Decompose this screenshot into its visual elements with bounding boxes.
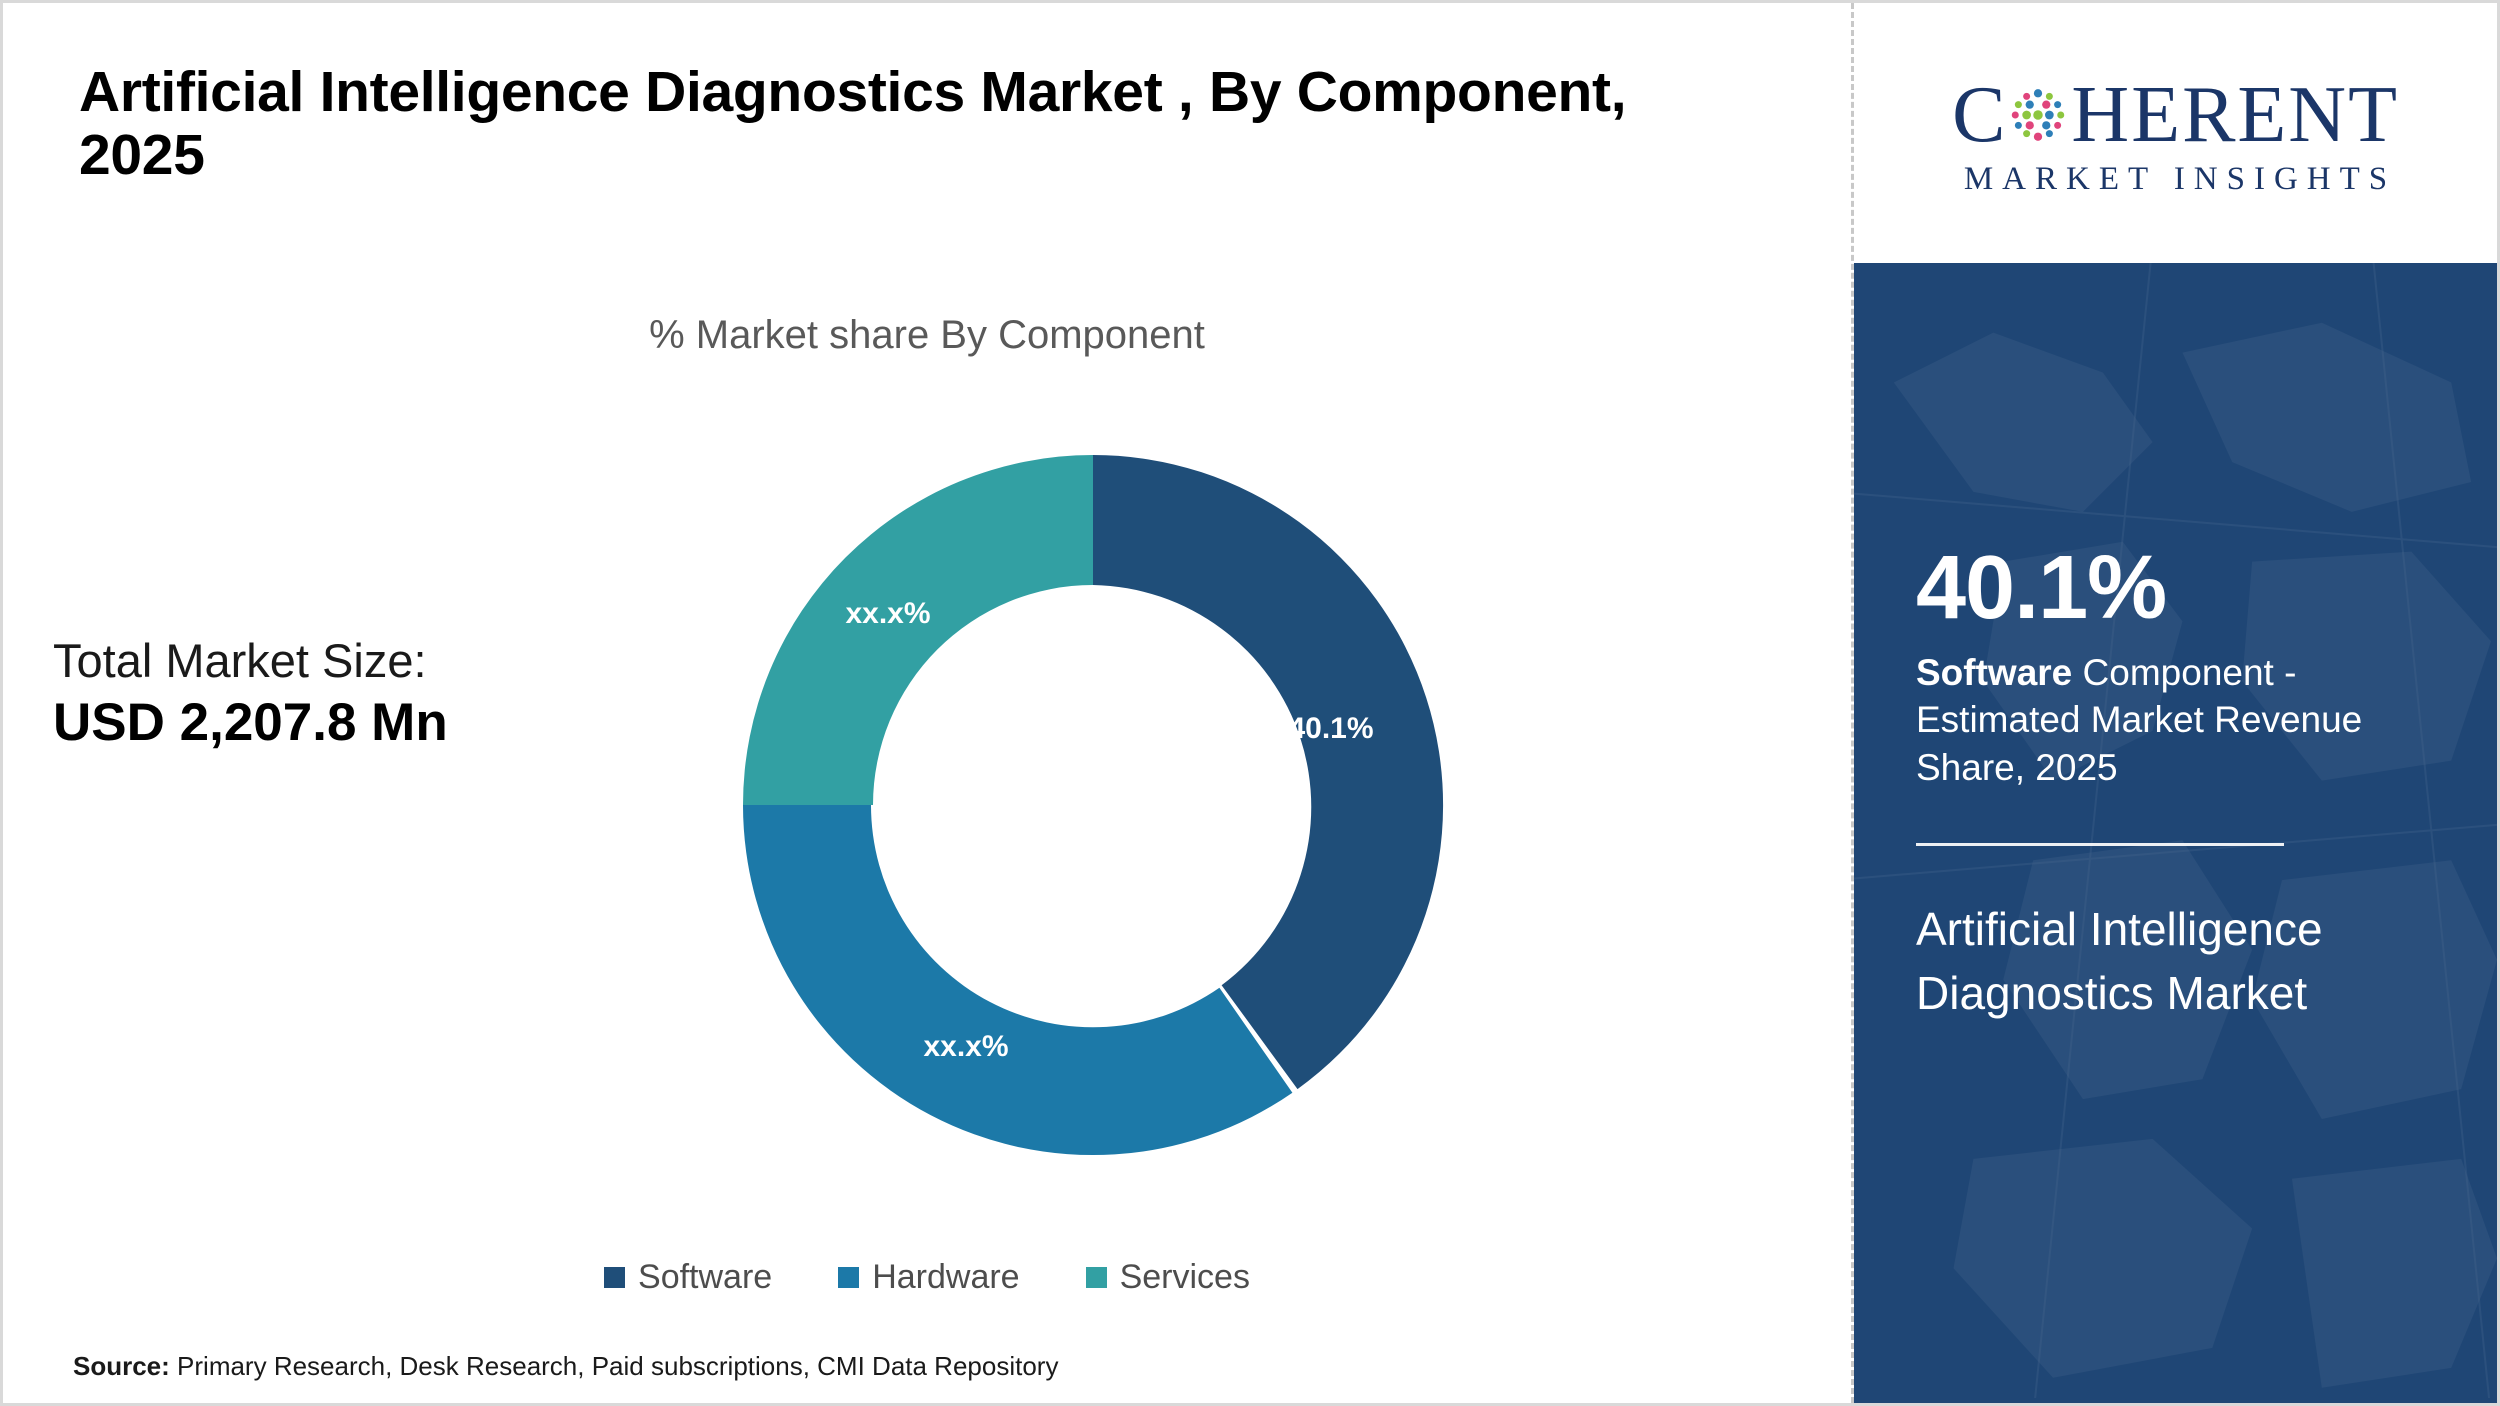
logo-wordmark: C: [1952, 75, 2399, 155]
total-market-size-label: Total Market Size:: [53, 633, 693, 688]
donut-label-software: 40.1%: [1288, 712, 1373, 745]
sidebar-stat-area: 40.1% Software Component - Estimated Mar…: [1854, 263, 2497, 1403]
legend-label-services: Services: [1120, 1258, 1250, 1297]
logo-tagline: MARKET INSIGHTS: [1955, 161, 2396, 198]
donut-slice-services[interactable]: [743, 455, 1093, 805]
logo-wordmark-rest: HERENT: [2071, 75, 2399, 155]
source-prefix: Source:: [73, 1351, 170, 1381]
left-content-panel: Artificial Intelligence Diagnostics Mark…: [3, 3, 1851, 1403]
donut-slice-software[interactable]: [1093, 455, 1443, 1089]
donut-chart: 40.1% xx.x% xx.x%: [731, 443, 1455, 1167]
infographic-root: Artificial Intelligence Diagnostics Mark…: [0, 0, 2500, 1406]
legend-swatch-software: [604, 1267, 625, 1288]
legend-item-software[interactable]: Software: [604, 1258, 772, 1297]
legend-item-hardware[interactable]: Hardware: [838, 1258, 1019, 1297]
source-note: Source: Primary Research, Desk Research,…: [73, 1351, 1058, 1382]
stat-description: Software Component - Estimated Market Re…: [1916, 649, 2386, 791]
donut-label-services: xx.x%: [845, 597, 930, 630]
chart-legend: Software Hardware Services: [3, 1258, 1851, 1297]
logo-letter-c: C: [1952, 75, 2007, 155]
sidebar-stat-inner: 40.1% Software Component - Estimated Mar…: [1916, 263, 2435, 1403]
total-market-size-value: USD 2,207.8 Mn: [53, 692, 693, 755]
chart-subtitle: % Market share By Component: [3, 313, 1851, 358]
legend-swatch-services: [1086, 1267, 1107, 1288]
donut-label-hardware: xx.x%: [923, 1030, 1008, 1063]
globe-icon: [2007, 84, 2069, 146]
page-title: Artificial Intelligence Diagnostics Mark…: [79, 61, 1639, 186]
legend-label-hardware: Hardware: [872, 1258, 1019, 1297]
legend-label-software: Software: [638, 1258, 772, 1297]
legend-item-services[interactable]: Services: [1086, 1258, 1250, 1297]
stat-description-bold: Software: [1916, 652, 2072, 693]
brand-logo[interactable]: C: [1854, 3, 2497, 263]
divider-rule: [1916, 843, 2284, 846]
stat-percent-value: 40.1%: [1916, 543, 2435, 633]
source-text: Primary Research, Desk Research, Paid su…: [170, 1351, 1059, 1381]
donut-slice-hardware[interactable]: [743, 805, 1292, 1155]
sidebar-market-name: Artificial Intelligence Diagnostics Mark…: [1916, 898, 2336, 1025]
legend-swatch-hardware: [838, 1267, 859, 1288]
sidebar-panel: C: [1851, 3, 2497, 1403]
total-market-size-block: Total Market Size: USD 2,207.8 Mn: [53, 633, 693, 755]
